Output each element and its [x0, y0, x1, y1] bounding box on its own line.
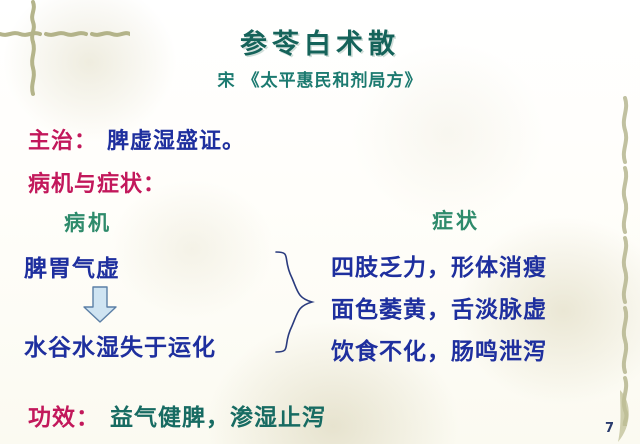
- efficacy-label: 功效：: [28, 405, 100, 431]
- symptom-item-3: 饮食不化，肠鸣泄泻: [331, 332, 547, 366]
- indication-label: 主治：: [28, 129, 97, 154]
- slide-canvas: 参苓白术散 宋 《太平惠民和剂局方》 主治：脾虚湿盛证。 病机与症状： 病机 症…: [0, 0, 640, 444]
- indication-value: 脾虚湿盛证。: [107, 129, 245, 154]
- efficacy-value: 益气健脾，渗湿止泻: [110, 405, 326, 431]
- pathogenesis-section-label: 病机与症状：: [28, 166, 166, 198]
- right-curly-brace-icon: [272, 250, 318, 358]
- down-arrow-icon: [78, 285, 124, 329]
- slide-title: 参苓白术散: [0, 22, 640, 61]
- column-header-pathogenesis: 病机: [64, 207, 112, 237]
- pathogenesis-item-2: 水谷水湿失于运化: [24, 328, 216, 362]
- bamboo-stalk-vertical-decoration: [612, 96, 638, 426]
- slide-subtitle-source: 宋 《太平惠民和剂局方》: [0, 66, 640, 91]
- symptom-item-1: 四肢乏力，形体消瘦: [331, 248, 547, 282]
- page-number: 7: [605, 421, 614, 436]
- column-header-symptoms: 症状: [432, 205, 480, 235]
- efficacy-row: 功效：益气健脾，渗湿止泻: [28, 398, 326, 432]
- symptom-item-2: 面色萎黄，舌淡脉虚: [331, 290, 547, 324]
- indication-row: 主治：脾虚湿盛证。: [28, 123, 245, 155]
- pathogenesis-item-1: 脾胃气虚: [24, 249, 120, 283]
